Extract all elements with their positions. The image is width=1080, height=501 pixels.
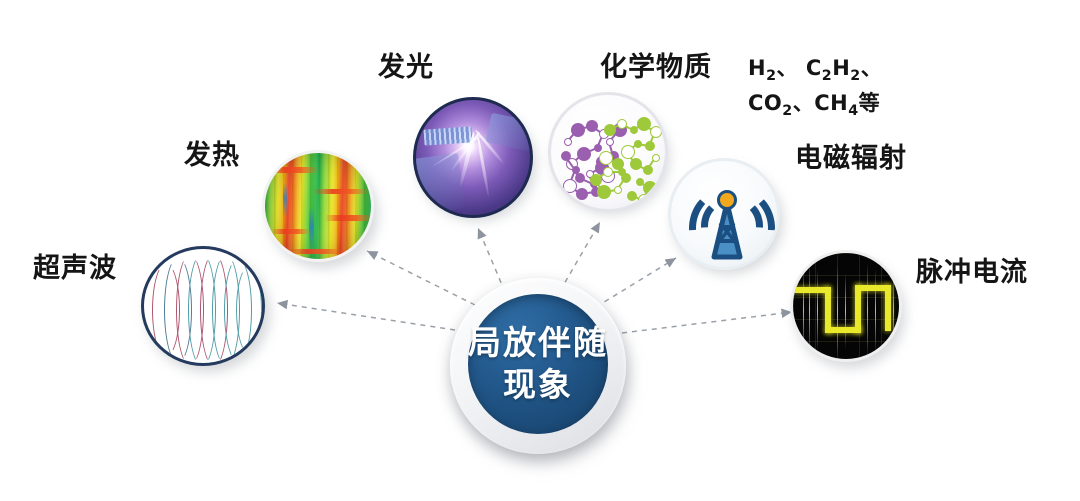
molecule-chain-icon: [599, 151, 613, 165]
oscilloscope-waveform-icon: [795, 287, 829, 293]
node-light[interactable]: [413, 97, 533, 218]
connector-to-light: [478, 228, 505, 292]
molecule-chain-icon: [561, 151, 571, 161]
node-ultrasonic[interactable]: [141, 246, 265, 366]
molecule-chain-icon: [637, 117, 651, 131]
oscilloscope-noise: [809, 261, 810, 357]
molecule-chain-icon: [652, 154, 660, 162]
molecule-chain-icon: [630, 158, 642, 170]
molecule-chain-icon: [645, 141, 655, 151]
molecule-chain-icon: [572, 166, 580, 174]
oscilloscope-noise: [837, 265, 838, 357]
oscilloscope-noise: [803, 267, 804, 353]
thermal-image-icon: [267, 167, 319, 173]
label-pulse: 脉冲电流: [916, 257, 1028, 288]
oscilloscope-noise: [893, 275, 894, 345]
formula-line-2: CO2、CH4等: [748, 87, 882, 122]
oscilloscope-noise: [875, 269, 876, 353]
ultrasonic-wave-icon: [236, 266, 262, 354]
center-label-line-1: 局放伴随: [468, 322, 608, 364]
thermal-image-icon: [271, 229, 311, 234]
molecule-chain-icon: [650, 126, 662, 138]
molecule-chain-icon: [618, 168, 626, 176]
connector-to-pulse: [622, 312, 792, 333]
connector-to-ultrasonic: [277, 303, 455, 330]
diagram-canvas: 超声波 发热 发光 化学物质 H2、 C2H2、 CO2、CH4等: [0, 0, 1080, 501]
molecule-chain-icon: [634, 140, 642, 148]
node-emr[interactable]: [668, 158, 780, 270]
label-light: 发光: [378, 52, 434, 83]
molecule-chain-icon: [571, 123, 585, 137]
node-pulse[interactable]: [790, 250, 902, 362]
center-node[interactable]: 局放伴随 现象: [468, 294, 608, 434]
molecule-chain-icon: [563, 179, 577, 193]
label-heat: 发热: [184, 140, 240, 171]
oscilloscope-noise: [845, 273, 846, 349]
chemical-formula-annotation: H2、 C2H2、 CO2、CH4等: [748, 52, 882, 123]
molecule-chain-icon: [590, 174, 602, 186]
molecule-chain-icon: [564, 138, 572, 146]
molecule-chain-icon: [638, 194, 650, 206]
electrical-discharge-icon: [424, 126, 473, 145]
connector-to-chemical: [560, 222, 600, 291]
molecule-chain-icon: [643, 165, 653, 175]
radio-tower-icon: [671, 161, 780, 270]
oscilloscope-waveform-icon: [855, 285, 861, 333]
molecule-chain-icon: [604, 124, 616, 136]
molecule-chain-icon: [606, 138, 614, 146]
molecule-chain-icon: [576, 188, 588, 200]
connector-to-heat: [367, 251, 475, 305]
molecule-chain-icon: [621, 145, 635, 159]
label-emr: 电磁辐射: [795, 143, 907, 174]
label-ultrasonic: 超声波: [33, 253, 117, 284]
molecule-chain-icon: [594, 144, 602, 152]
molecule-chain-icon: [586, 120, 598, 132]
node-heat[interactable]: [262, 150, 374, 262]
molecule-chain-icon: [617, 119, 627, 129]
molecule-chain-icon: [614, 186, 622, 194]
thermal-image-icon: [313, 189, 369, 194]
center-label-line-2: 现象: [503, 364, 573, 406]
molecule-chain-icon: [627, 191, 637, 201]
oscilloscope-noise: [867, 263, 868, 357]
molecule-chain-icon: [577, 147, 591, 161]
thermal-image-icon: [287, 249, 345, 254]
molecule-chain-icon: [575, 173, 585, 183]
thermal-image-icon: [309, 207, 314, 251]
connector-to-emr: [596, 258, 676, 307]
molecule-chain-icon: [603, 167, 613, 177]
oscilloscope-waveform-icon: [885, 285, 891, 331]
thermal-image-icon: [325, 215, 373, 221]
thermal-image-icon: [283, 183, 287, 217]
label-chemical: 化学物质: [600, 52, 712, 83]
molecule-chain-icon: [597, 185, 611, 199]
oscilloscope-noise: [817, 269, 818, 351]
node-chemical[interactable]: [548, 92, 668, 212]
radio-tower-beacon-icon: [717, 190, 737, 210]
formula-line-1: H2、 C2H2、: [748, 52, 882, 87]
molecule-chain-icon: [643, 181, 657, 195]
